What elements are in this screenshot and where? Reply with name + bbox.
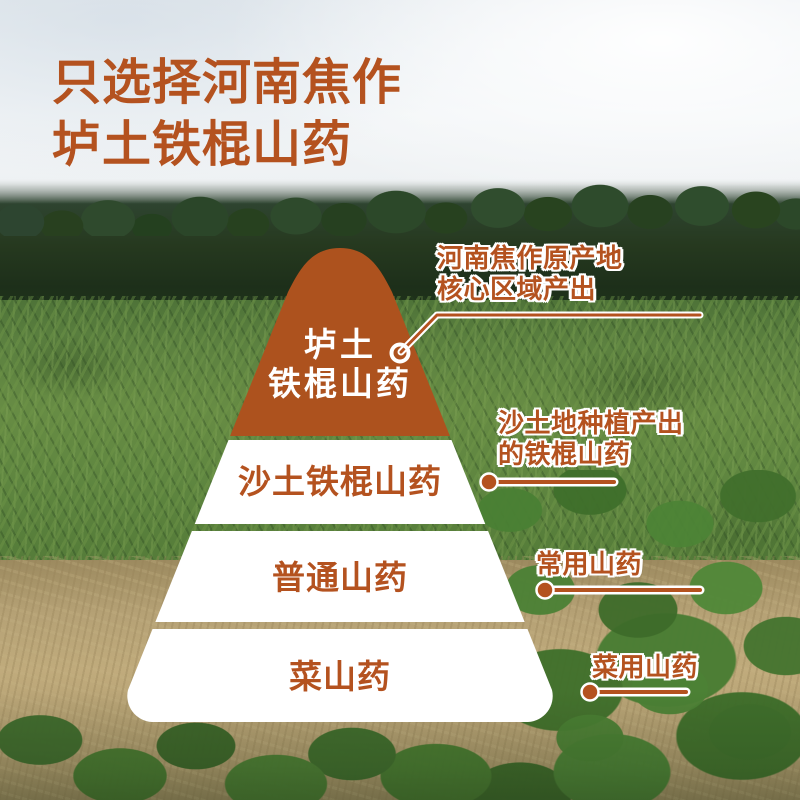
bottom-vignette (0, 690, 800, 800)
callout-label-3: 常用山药 (536, 549, 642, 580)
callout-label-4: 菜用山药 (592, 652, 698, 683)
page-title: 只选择河南焦作 垆土铁棍山药 (52, 52, 572, 176)
promo-banner: 只选择河南焦作 垆土铁棍山药 (0, 0, 800, 800)
callout-label-2: 沙土地种植产出 的铁棍山药 (498, 408, 684, 470)
callout-label-1: 河南焦作原产地 核心区域产出 (437, 243, 623, 305)
treeline-canopy (0, 176, 800, 236)
